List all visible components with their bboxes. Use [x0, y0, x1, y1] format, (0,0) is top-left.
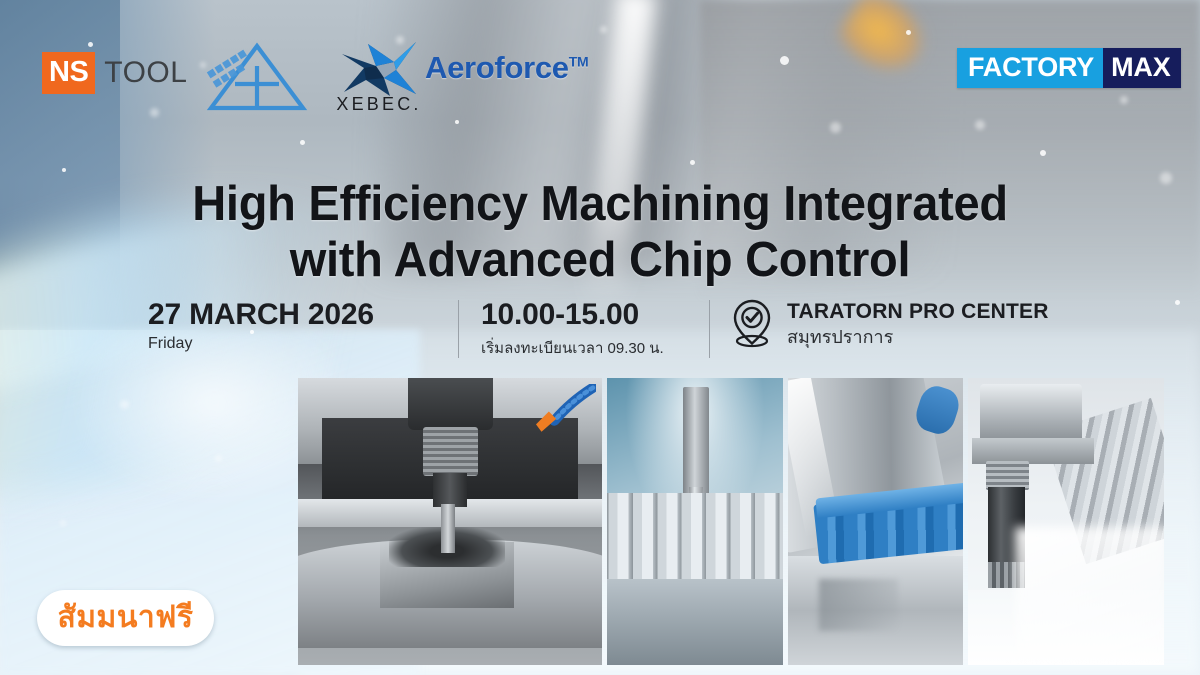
bokeh-dot	[215, 455, 222, 462]
free-seminar-badge[interactable]: สัมมนาฟรี	[37, 590, 214, 646]
ns-tool-wordmark: TOOL	[104, 56, 187, 90]
ns-tool-mark: NS	[42, 52, 95, 94]
logo-iwata-tool	[205, 36, 315, 116]
logo-xebec: XEBEC.	[330, 40, 428, 120]
bokeh-dot	[62, 168, 66, 172]
photo-cnc-milling	[298, 378, 602, 665]
aeroforce-wordmark: Aeroforce	[425, 50, 569, 85]
photo-layer	[819, 579, 898, 631]
event-venue-province: สมุทรปราการ	[787, 326, 1049, 348]
photo-spindle-coolant	[968, 378, 1164, 665]
coolant-hose-icon	[520, 384, 596, 476]
event-date-block: 27 MARCH 2026 Friday	[148, 298, 458, 353]
factory-max-word-factory: FACTORY	[968, 52, 1094, 82]
photo-layer	[433, 473, 466, 507]
photo-layer	[423, 427, 478, 476]
free-seminar-badge-label: สัมมนาฟรี	[57, 603, 193, 633]
logo-ns-tool: NS TOOL	[42, 52, 187, 94]
bokeh-dot	[1175, 300, 1180, 305]
iwata-tool-mark	[205, 36, 315, 116]
event-time-block: 10.00-15.00 เริ่มลงทะเบียนเวลา 09.30 น.	[459, 298, 709, 360]
location-pin-check-icon	[730, 298, 774, 348]
photo-layer	[408, 378, 493, 430]
photo-layer	[607, 579, 783, 665]
event-title: High Efficiency Machining Integrated wit…	[0, 176, 1200, 288]
logo-factory-max: FACTORY MAX	[957, 48, 1181, 88]
photo-deburring-brush	[788, 378, 964, 665]
logo-aeroforce: AeroforceTM	[425, 50, 588, 86]
event-time: 10.00-15.00	[481, 298, 709, 332]
bokeh-dot	[300, 140, 305, 145]
bokeh-dot	[1040, 150, 1046, 156]
photo-layer	[986, 461, 1029, 490]
title-line-1: High Efficiency Machining Integrated	[24, 176, 1176, 232]
factory-max-right: MAX	[1103, 48, 1180, 88]
event-info-row: 27 MARCH 2026 Friday 10.00-15.00 เริ่มลง…	[148, 298, 1068, 362]
photo-layer	[972, 438, 1093, 464]
event-registration-note: เริ่มลงทะเบียนเวลา 09.30 น.	[481, 336, 709, 360]
photo-layer	[441, 504, 455, 553]
event-banner: NS TOOL	[0, 0, 1200, 675]
bokeh-dot	[120, 400, 129, 409]
aeroforce-trademark: TM	[569, 54, 589, 70]
event-venue-text: TARATORN PRO CENTER สมุทรปราการ	[787, 300, 1049, 348]
factory-max-left: FACTORY	[957, 48, 1103, 88]
photo-layer	[607, 493, 783, 591]
photo-strip	[298, 378, 1164, 665]
event-weekday: Friday	[148, 335, 458, 353]
event-date: 27 MARCH 2026	[148, 298, 458, 332]
bokeh-dot	[60, 520, 66, 526]
xebec-star-icon	[338, 40, 420, 98]
event-venue-block: TARATORN PRO CENTER สมุทรปราการ	[710, 298, 1049, 348]
factory-max-word-max: MAX	[1111, 52, 1170, 82]
photo-gear-teeth	[607, 378, 783, 665]
xebec-wordmark: XEBEC.	[330, 94, 428, 115]
bokeh-dot	[690, 160, 695, 165]
event-venue-name: TARATORN PRO CENTER	[787, 300, 1049, 324]
title-line-2: with Advanced Chip Control	[24, 232, 1176, 288]
photo-layer	[683, 387, 709, 496]
partner-logos-row: NS TOOL	[0, 0, 1200, 130]
photo-layer	[1015, 527, 1164, 665]
